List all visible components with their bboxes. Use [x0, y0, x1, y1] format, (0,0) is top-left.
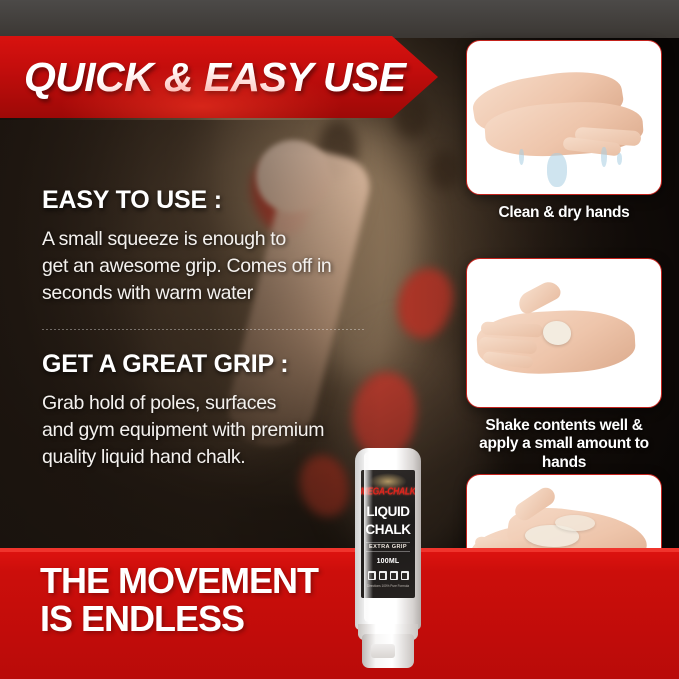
feature-body-line: A small squeeze is enough to — [42, 226, 372, 253]
top-edge-strip — [0, 0, 679, 38]
pictogram-icon — [379, 571, 387, 580]
tube-label: MEGA-CHALK LIQUID CHALK EXTRA GRIP 100ML… — [361, 470, 415, 598]
product-descriptor: EXTRA GRIP — [366, 542, 410, 552]
feature-body-line: Grab hold of poles, surfaces — [42, 390, 372, 417]
step-card: Shake contents well & apply a small amou… — [466, 258, 662, 472]
feature-body: Grab hold of poles, surfaces and gym equ… — [42, 390, 372, 471]
header-title: QUICK & EASY USE — [0, 54, 406, 101]
water-droplet — [617, 153, 622, 165]
chalk-smear — [555, 515, 595, 531]
feature-body-line: and gym equipment with premium — [42, 417, 372, 444]
feature-heading: GET A GREAT GRIP : — [42, 350, 372, 379]
step-caption-line: Shake contents well & — [466, 417, 662, 435]
pictogram-icon — [401, 571, 409, 580]
section-divider — [42, 329, 364, 330]
cap-notch — [371, 644, 395, 658]
step-caption: Clean & dry hands — [466, 204, 662, 222]
washing-hands-photo — [466, 40, 662, 195]
product-name-line-2: CHALK — [365, 523, 410, 537]
footer-title: THE MOVEMENT IS ENDLESS — [40, 562, 400, 638]
feature-body-line: get an awesome grip. Comes off in — [42, 253, 372, 280]
step-caption: Shake contents well & apply a small amou… — [466, 417, 662, 472]
step-caption-line: apply a small amount to hands — [466, 435, 662, 472]
feature-block-great-grip: GET A GREAT GRIP : Grab hold of poles, s… — [42, 350, 372, 471]
chalk-in-palm-photo — [466, 258, 662, 408]
water-droplet — [601, 147, 607, 167]
feature-block-easy-to-use: EASY TO USE : A small squeeze is enough … — [42, 186, 372, 307]
infographic-stage: QUICK & EASY USE EASY TO USE : A small s… — [0, 0, 679, 679]
product-volume: 100ML — [377, 558, 400, 565]
product-name-line-1: LIQUID — [366, 505, 409, 519]
water-stream — [547, 153, 567, 187]
footer-title-line: IS ENDLESS — [40, 600, 400, 638]
chalk-blob — [543, 321, 571, 345]
water-droplet — [519, 149, 524, 165]
feature-body-line: seconds with warm water — [42, 280, 372, 307]
pictogram-icon — [368, 571, 376, 580]
footer-title-line: THE MOVEMENT — [40, 562, 400, 600]
label-fine-print: Directions 100% Pure Formula — [364, 584, 412, 588]
pictogram-row — [368, 571, 409, 580]
step-card: Clean & dry hands — [466, 40, 662, 222]
pictogram-icon — [390, 571, 398, 580]
footer-banner: THE MOVEMENT IS ENDLESS — [0, 548, 679, 679]
feature-body-line: quality liquid hand chalk. — [42, 444, 372, 471]
tube-body: MEGA-CHALK LIQUID CHALK EXTRA GRIP 100ML… — [355, 448, 421, 630]
brand-name: MEGA-CHALK — [361, 485, 415, 497]
feature-heading: EASY TO USE : — [42, 186, 372, 215]
feature-list: EASY TO USE : A small squeeze is enough … — [42, 186, 372, 470]
product-tube: MEGA-CHALK LIQUID CHALK EXTRA GRIP 100ML… — [355, 448, 421, 670]
feature-body: A small squeeze is enough to get an awes… — [42, 226, 372, 307]
header-banner: QUICK & EASY USE — [0, 36, 438, 118]
